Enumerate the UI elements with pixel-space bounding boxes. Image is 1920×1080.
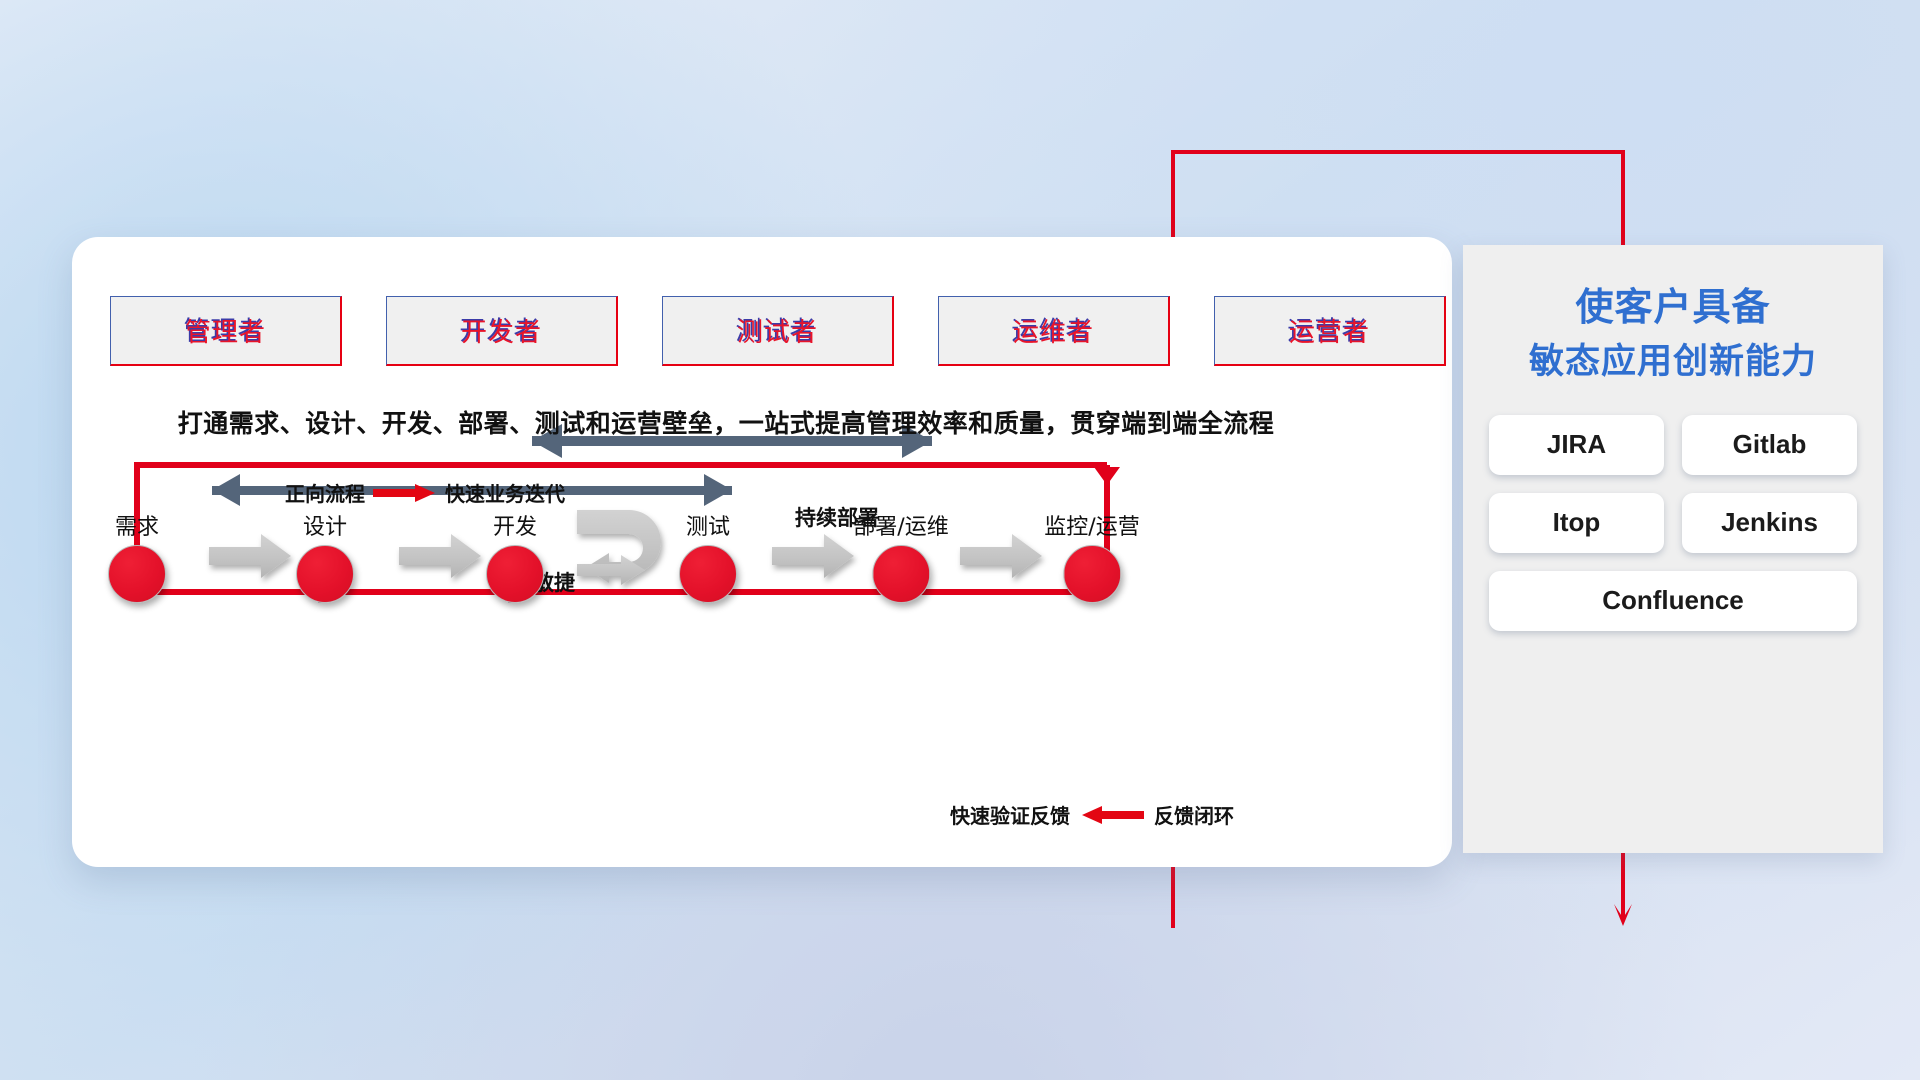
tool-chip-confluence[interactable]: Confluence (1489, 571, 1857, 631)
pipeline-node-requirements[interactable]: 需求 (108, 509, 166, 603)
node-label: 部署/运维 (853, 509, 948, 541)
node-dot-icon (1063, 545, 1121, 603)
node-dot-icon (486, 545, 544, 603)
node-dot-icon (679, 545, 737, 603)
node-label: 监控/运营 (1044, 509, 1139, 541)
pipeline-node-design[interactable]: 设计 (296, 509, 354, 603)
node-dot-icon (108, 545, 166, 603)
right-panel: 使客户具备 敏态应用创新能力 JIRA Gitlab Itop Jenkins … (1463, 245, 1883, 853)
pipeline-node-testing[interactable]: 测试 (679, 509, 737, 603)
tool-chip-itop[interactable]: Itop (1489, 493, 1664, 553)
pipeline-node-development[interactable]: 开发 (486, 509, 544, 603)
node-dot-icon (872, 545, 930, 603)
pipeline-node-monitor-operations[interactable]: 监控/运营 (1044, 509, 1139, 603)
node-label: 需求 (108, 509, 166, 541)
panel-headline-line1: 使客户具备 (1489, 279, 1857, 336)
tool-chip-grid: JIRA Gitlab Itop Jenkins Confluence (1489, 415, 1857, 631)
node-dot-icon (296, 545, 354, 603)
panel-headline-line2: 敏态应用创新能力 (1489, 336, 1857, 389)
pipeline-node-deploy-ops[interactable]: 部署/运维 (853, 509, 948, 603)
pipeline-node-row: 需求 设计 开发 测试 部署/运维 监控/运营 (72, 237, 1452, 867)
node-label: 测试 (679, 509, 737, 541)
tool-chip-jenkins[interactable]: Jenkins (1682, 493, 1857, 553)
tool-chip-jira[interactable]: JIRA (1489, 415, 1664, 475)
node-label: 设计 (296, 509, 354, 541)
node-label: 开发 (486, 509, 544, 541)
tool-chip-gitlab[interactable]: Gitlab (1682, 415, 1857, 475)
